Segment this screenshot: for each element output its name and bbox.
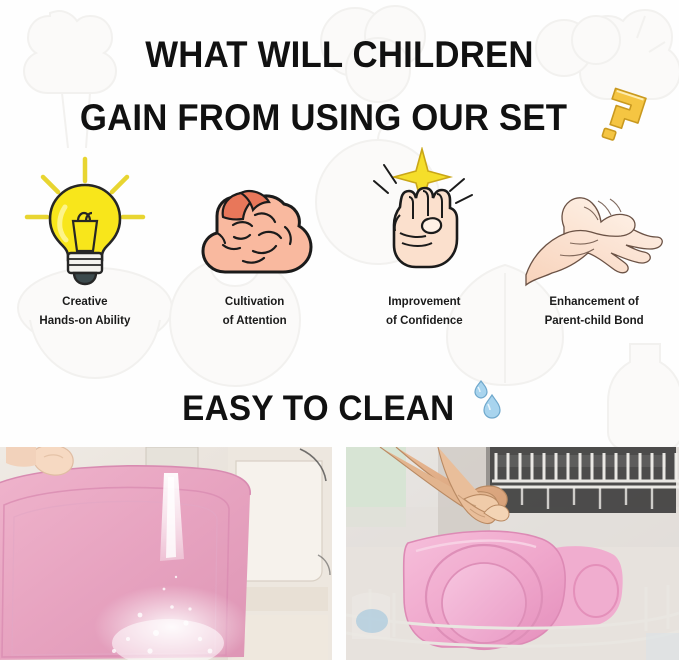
brain-icon (193, 167, 317, 287)
benefit-item-creative: Creative Hands-on Ability (0, 152, 170, 342)
benefits-row: Creative Hands-on Ability (0, 152, 679, 342)
watermark-broccoli-icon (0, 0, 180, 166)
water-droplets-icon (470, 379, 504, 419)
photo-dishwasher-placemat (346, 447, 679, 660)
easy-to-clean-title: EASY TO CLEAN (182, 391, 454, 426)
benefit-art (524, 152, 664, 287)
lightbulb-icon (21, 155, 149, 287)
benefit-label: Improvement of Confidence (386, 293, 463, 331)
headline-line-2: GAIN FROM USING OUR SET (20, 99, 658, 136)
benefit-label: Creative Hands-on Ability (39, 293, 130, 331)
photo-rinsing-placemat-art (0, 447, 332, 660)
benefit-art (193, 152, 317, 287)
benefit-label-line-2: of Attention (223, 312, 287, 331)
question-mark-icon (588, 84, 658, 144)
benefit-label-line-1: Improvement (386, 293, 463, 312)
easy-to-clean-heading: EASY TO CLEAN (0, 388, 679, 428)
benefit-label-line-1: Creative (39, 293, 130, 312)
headline-line-1: WHAT WILL CHILDREN (20, 36, 658, 73)
benefit-label-line-1: Cultivation (223, 293, 287, 312)
benefit-label: Cultivation of Attention (223, 293, 287, 331)
benefit-art (21, 152, 149, 287)
clean-photo-row (0, 447, 679, 660)
benefit-label: Enhancement of Parent-child Bond (545, 293, 644, 331)
benefit-item-confidence: Improvement of Confidence (340, 152, 510, 342)
benefit-label-line-2: of Confidence (386, 312, 463, 331)
benefit-item-parent-child-bond: Enhancement of Parent-child Bond (509, 152, 679, 342)
benefit-art (364, 152, 484, 287)
benefit-label-line-2: Parent-child Bond (545, 312, 644, 331)
holding-hands-icon (524, 157, 664, 287)
raised-fist-icon (364, 147, 484, 287)
product-infographic-page: WHAT WILL CHILDREN GAIN FROM USING OUR S… (0, 0, 679, 660)
benefit-label-line-2: Hands-on Ability (39, 312, 130, 331)
benefit-item-attention: Cultivation of Attention (170, 152, 340, 342)
photo-rinsing-placemat (0, 447, 332, 660)
photo-dishwasher-placemat-art (346, 447, 679, 660)
benefit-label-line-1: Enhancement of (545, 293, 644, 312)
